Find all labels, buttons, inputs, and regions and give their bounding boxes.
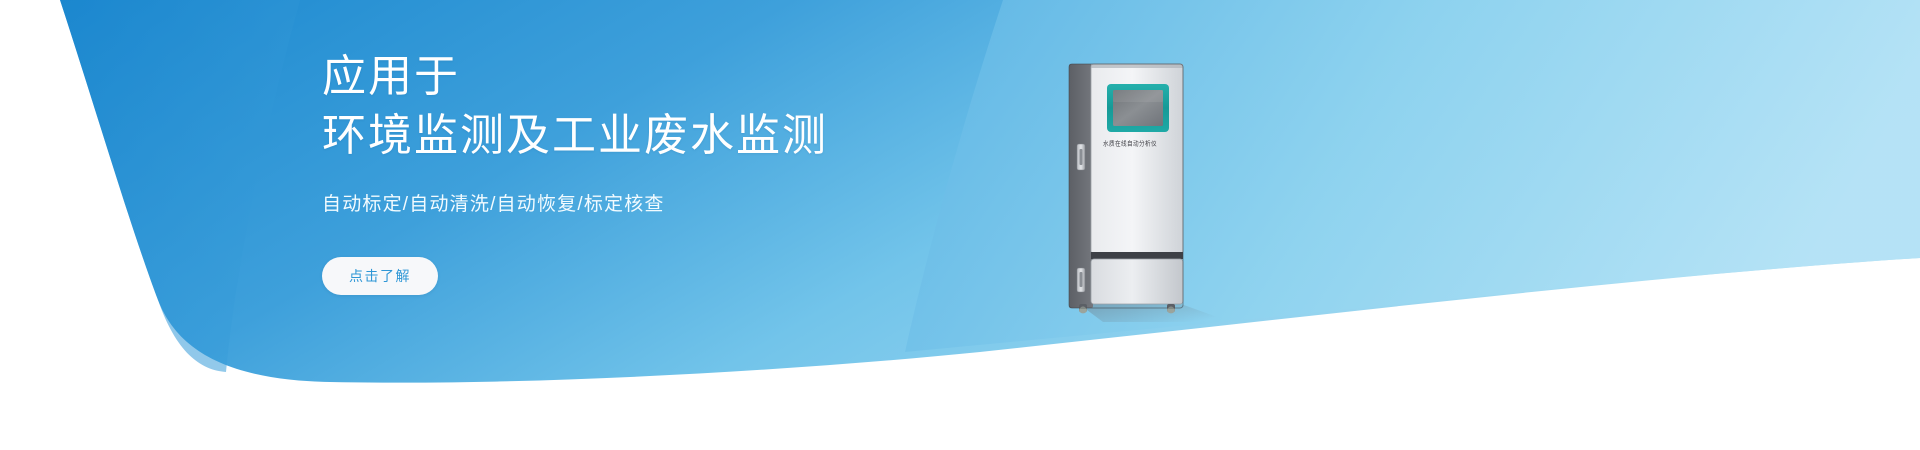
cabinet-divider (1091, 252, 1183, 259)
device-nameplate: 水质在线自动分析仪 (1090, 138, 1170, 147)
cabinet-top-edge (1091, 64, 1183, 68)
banner-copy: 应用于 环境监测及工业废水监测 自动标定/自动清洗/自动恢复/标定核查 点击了解 (322, 48, 1102, 295)
screen-glare (1113, 90, 1163, 102)
headline-line-2: 环境监测及工业废水监测 (322, 107, 1102, 164)
headline-line-1: 应用于 (322, 48, 1102, 105)
learn-more-button[interactable]: 点击了解 (322, 257, 438, 295)
cabinet-lower-door (1091, 259, 1183, 304)
hero-banner: 应用于 环境监测及工业废水监测 自动标定/自动清洗/自动恢复/标定核查 点击了解 (0, 0, 1920, 450)
banner-subheadline: 自动标定/自动清洗/自动恢复/标定核查 (322, 192, 1102, 219)
